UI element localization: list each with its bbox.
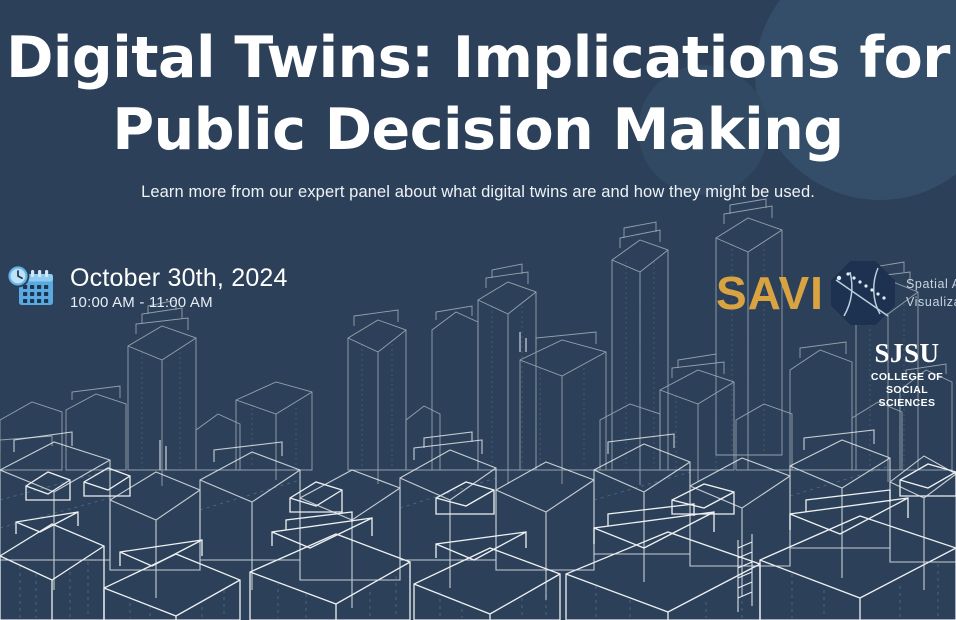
sjsu-logo: SJSU COLLEGE OF SOCIAL SCIENCES <box>858 338 956 410</box>
savi-tagline-line-1: Spatial A <box>906 275 956 293</box>
page-subtitle: Learn more from our expert panel about w… <box>0 183 956 202</box>
savi-octagon-network-icon <box>828 258 898 328</box>
sjsu-sublabel: COLLEGE OF SOCIAL SCIENCES <box>858 371 956 410</box>
savi-logo: SAVI Spatial A Visualizat <box>716 258 956 328</box>
sjsu-sublabel-line-1: COLLEGE OF <box>858 371 956 384</box>
event-datetime: October 30th, 2024 10:00 AM - 11:00 AM <box>4 262 288 314</box>
calendar-clock-icon <box>4 262 56 314</box>
event-time: 10:00 AM - 11:00 AM <box>70 293 288 313</box>
sjsu-wordmark: SJSU <box>858 338 956 368</box>
page-title: Digital Twins: Implications for Public D… <box>0 22 956 166</box>
event-poster: Digital Twins: Implications for Public D… <box>0 0 956 620</box>
savi-wordmark: SAVI <box>716 270 824 316</box>
savi-tagline: Spatial A Visualizat <box>906 275 956 311</box>
sjsu-sublabel-line-2: SOCIAL SCIENCES <box>858 384 956 410</box>
title-line-1: Digital Twins: Implications for <box>0 22 956 94</box>
title-line-2: Public Decision Making <box>0 94 956 166</box>
savi-tagline-line-2: Visualizat <box>906 293 956 311</box>
event-date: October 30th, 2024 <box>70 263 288 293</box>
